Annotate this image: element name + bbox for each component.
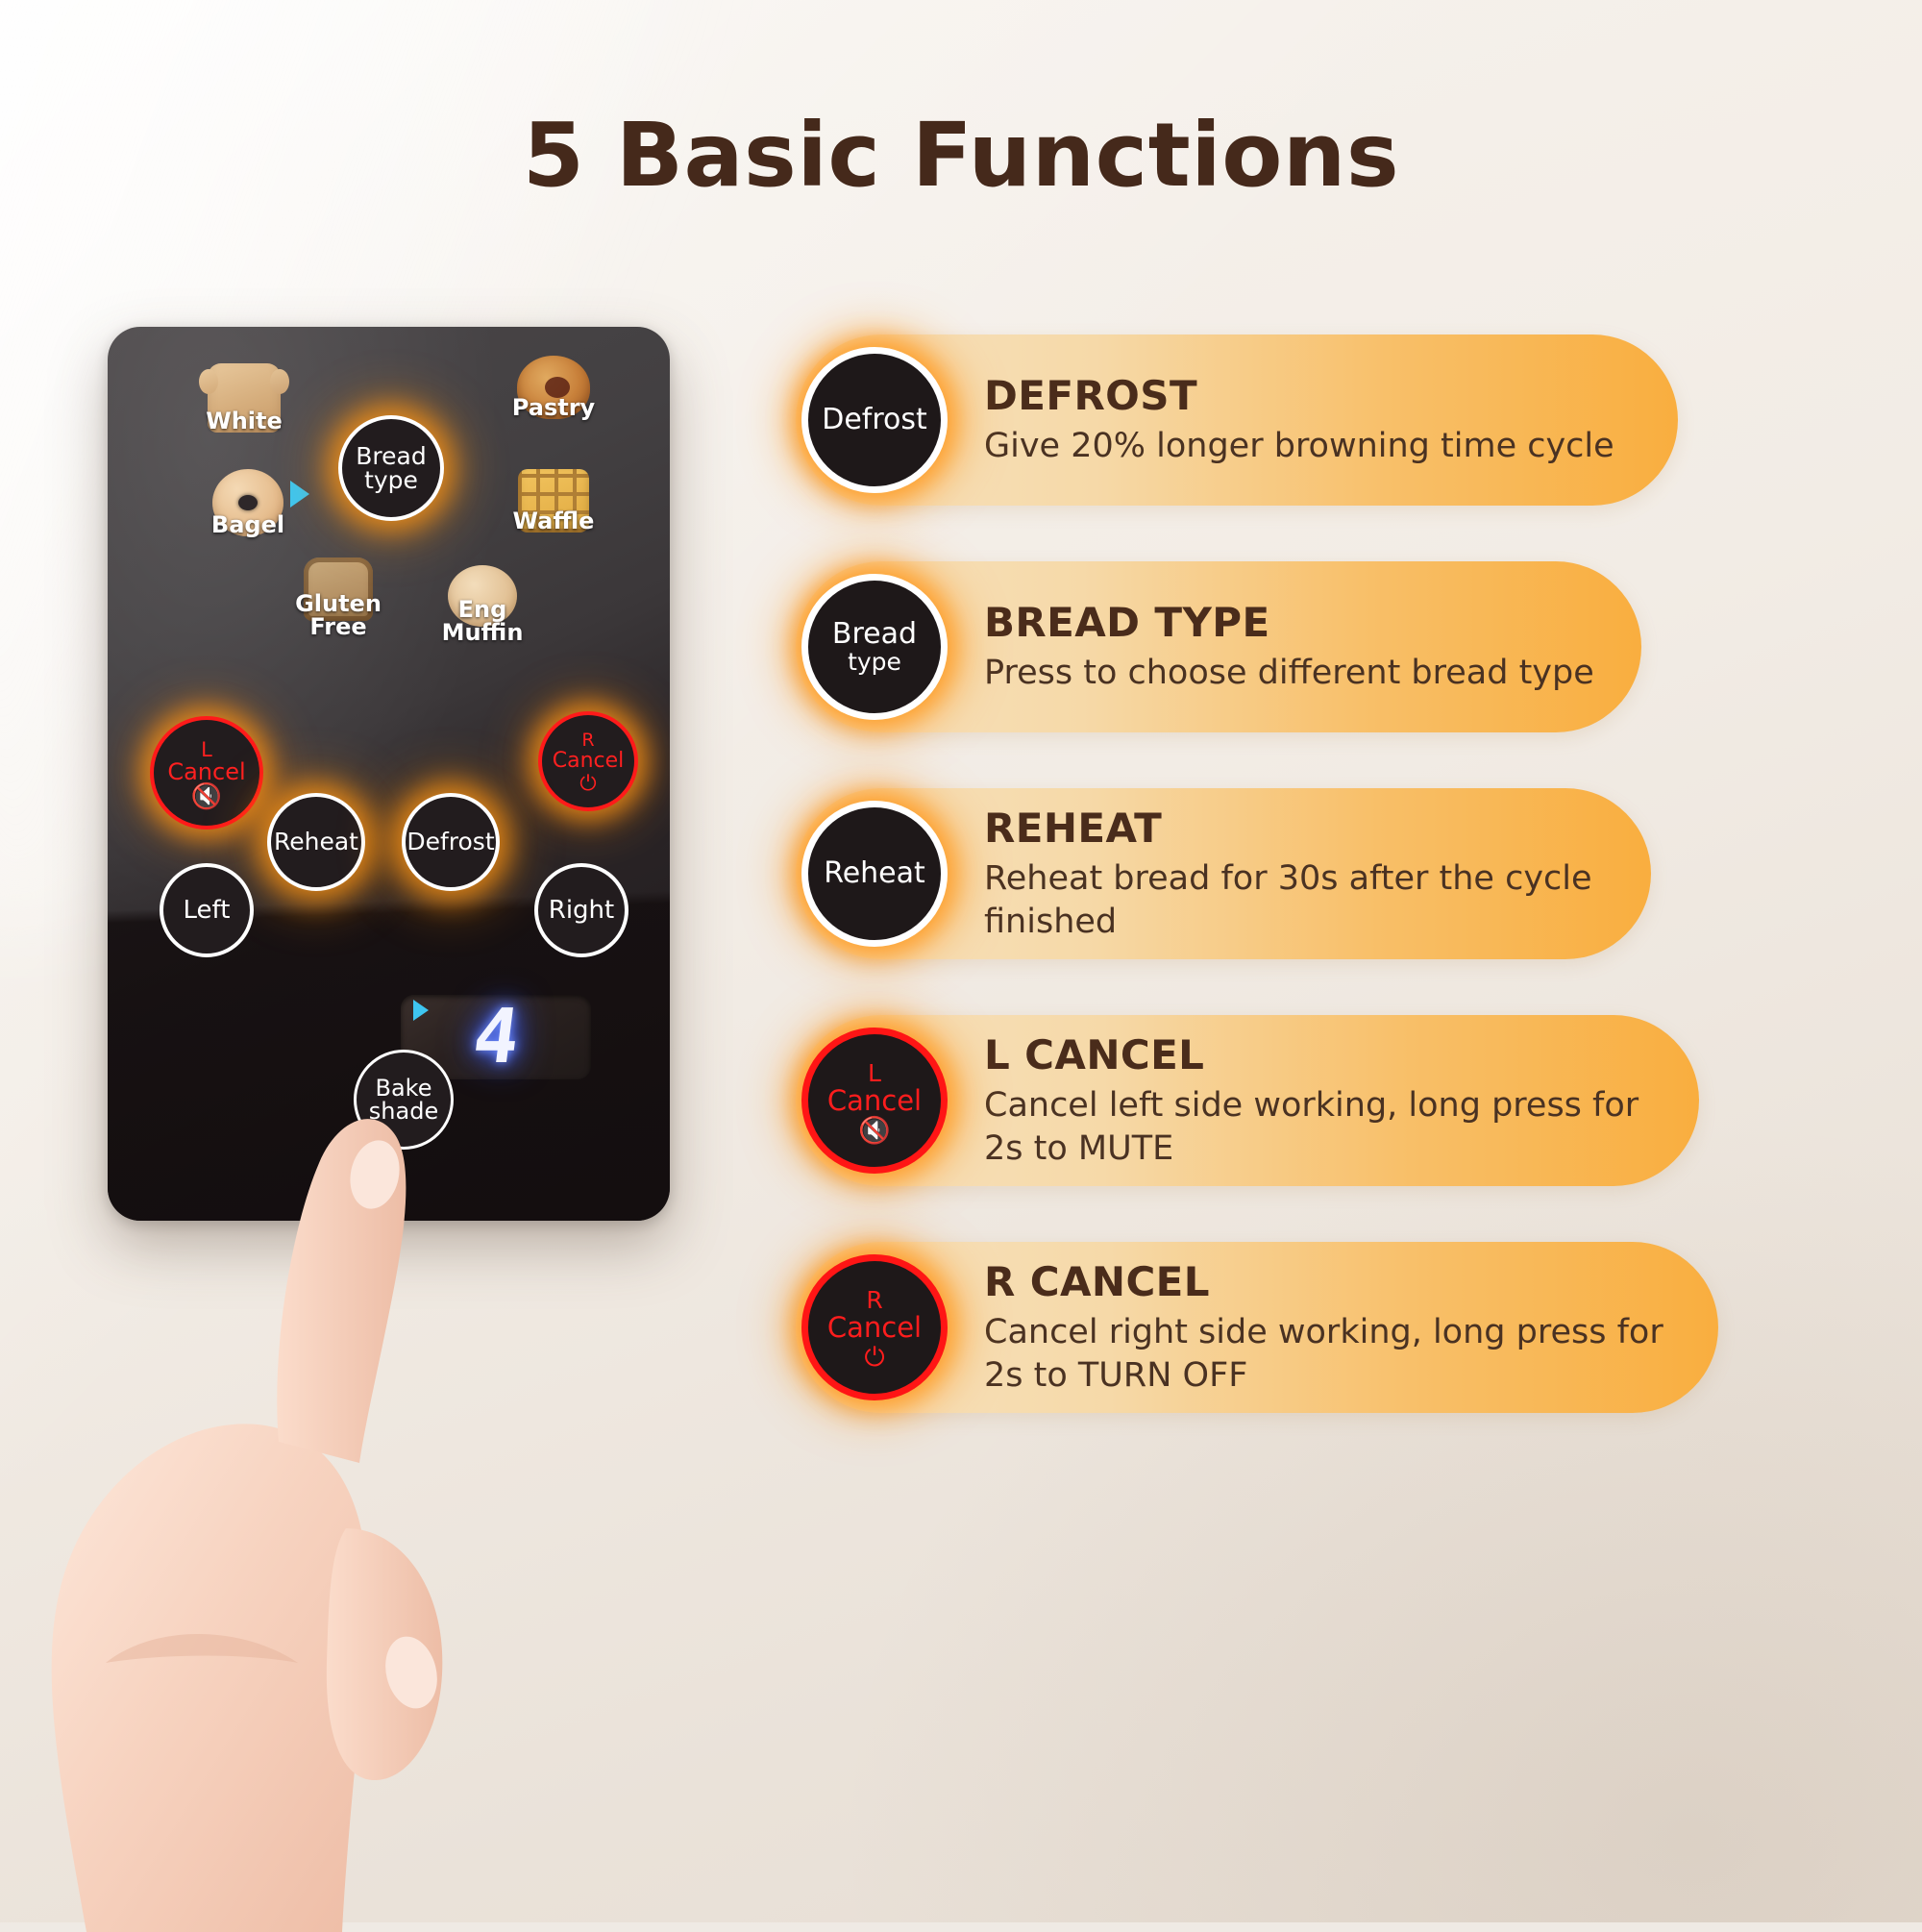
defrost-button-icon[interactable]: Defrost — [801, 347, 948, 493]
power-icon: ⏻ — [827, 1345, 922, 1371]
function-title-defrost: DEFROST — [984, 372, 1614, 419]
bread-type-gluten-free-label: GlutenFree — [281, 592, 396, 638]
l-cancel-button[interactable]: L Cancel 🔇 — [150, 716, 263, 830]
mute-icon: 🔇 — [827, 1118, 922, 1144]
toaster-control-panel: White Bagel Pastry Waffle GlutenFree Eng… — [108, 327, 670, 1221]
reheat-button[interactable]: Reheat — [267, 793, 365, 891]
bread-type-indicator-icon — [290, 481, 309, 508]
function-desc-bread-type: Press to choose different bread type — [984, 652, 1594, 695]
left-button[interactable]: Left — [160, 863, 254, 957]
bake-shade-indicator-icon — [413, 1000, 429, 1021]
bread-type-waffle[interactable]: Waffle — [496, 469, 611, 534]
bread-type-bagel[interactable]: Bagel — [190, 469, 306, 538]
bread-type-pastry-label: Pastry — [496, 394, 611, 421]
led-display-value: 4 — [468, 994, 524, 1080]
function-title-bread-type: BREAD TYPE — [984, 599, 1594, 646]
function-desc-l-cancel: Cancel left side working, long press for… — [984, 1084, 1661, 1171]
r-cancel-button[interactable]: R Cancel ⏻ — [538, 711, 638, 811]
bread-type-button[interactable]: Breadtype — [338, 415, 444, 521]
l-cancel-button-icon[interactable]: L Cancel 🔇 — [801, 1028, 948, 1174]
page-title: 5 Basic Functions — [0, 104, 1922, 207]
reheat-button-icon[interactable]: Reheat — [801, 801, 948, 947]
function-title-reheat: REHEAT — [984, 805, 1613, 852]
bread-type-eng-muffin-label: EngMuffin — [425, 598, 540, 644]
function-card-bread-type: Bread type BREAD TYPE Press to choose di… — [796, 561, 1641, 732]
function-desc-reheat: Reheat bread for 30s after the cycle fin… — [984, 857, 1613, 944]
function-cards-list: Defrost DEFROST Give 20% longer browning… — [796, 334, 1814, 1469]
r-cancel-button-icon[interactable]: R Cancel ⏻ — [801, 1254, 948, 1400]
defrost-button[interactable]: Defrost — [402, 793, 500, 891]
function-title-r-cancel: R CANCEL — [984, 1258, 1680, 1305]
bread-type-white[interactable]: White — [186, 363, 302, 434]
right-button[interactable]: Right — [534, 863, 628, 957]
function-card-l-cancel: L Cancel 🔇 L CANCEL Cancel left side wor… — [796, 1015, 1699, 1186]
bread-type-waffle-label: Waffle — [496, 508, 611, 534]
bake-shade-button[interactable]: Bakeshade — [354, 1050, 454, 1150]
bread-type-button-icon[interactable]: Bread type — [801, 574, 948, 720]
bread-type-gluten-free[interactable]: GlutenFree — [281, 557, 396, 638]
function-desc-defrost: Give 20% longer browning time cycle — [984, 425, 1614, 468]
mute-icon: 🔇 — [167, 786, 245, 808]
bread-type-eng-muffin[interactable]: EngMuffin — [425, 565, 540, 644]
function-card-defrost: Defrost DEFROST Give 20% longer browning… — [796, 334, 1678, 506]
function-card-reheat: Reheat REHEAT Reheat bread for 30s after… — [796, 788, 1651, 959]
bread-type-white-label: White — [186, 408, 302, 434]
bread-type-bagel-label: Bagel — [190, 511, 306, 538]
power-icon: ⏻ — [553, 775, 625, 794]
function-desc-r-cancel: Cancel right side working, long press fo… — [984, 1311, 1680, 1398]
bread-type-pastry[interactable]: Pastry — [496, 356, 611, 421]
function-title-l-cancel: L CANCEL — [984, 1031, 1661, 1078]
function-card-r-cancel: R Cancel ⏻ R CANCEL Cancel right side wo… — [796, 1242, 1718, 1413]
